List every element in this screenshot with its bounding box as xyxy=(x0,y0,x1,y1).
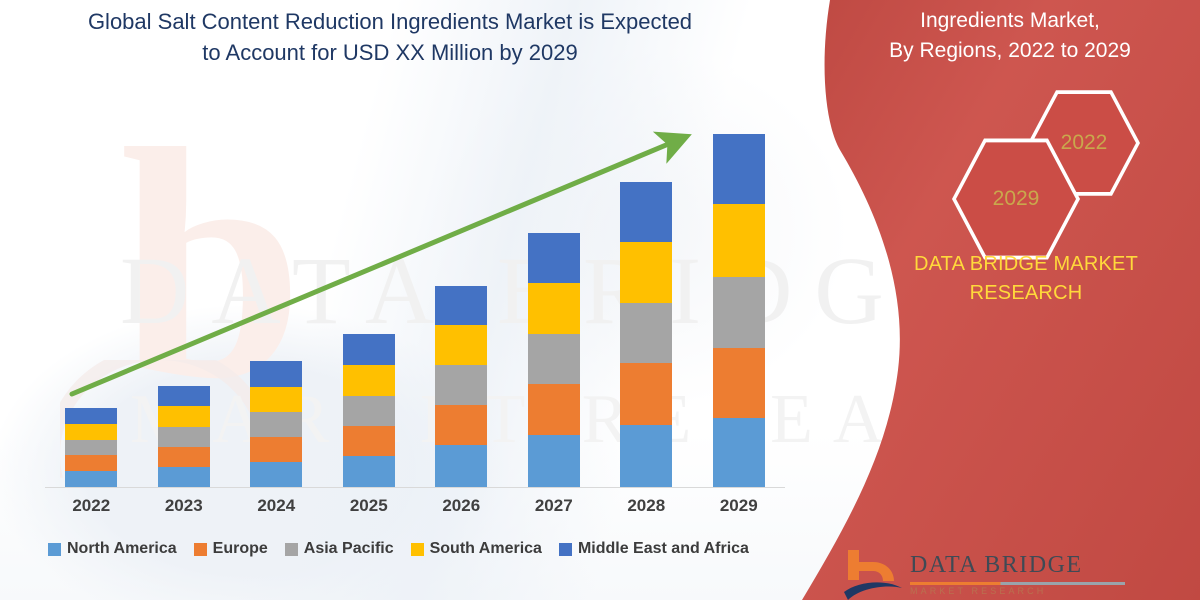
bar-segment[interactable] xyxy=(713,348,765,418)
stacked-bar-chart: 20222023202420252026202720282029 xyxy=(0,0,830,600)
bar-group[interactable] xyxy=(65,408,117,487)
bar-group[interactable] xyxy=(713,134,765,487)
bar-segment[interactable] xyxy=(250,437,302,462)
bar-segment[interactable] xyxy=(713,418,765,487)
bar-segment[interactable] xyxy=(528,435,580,487)
bar-segment[interactable] xyxy=(620,182,672,242)
bar-segment[interactable] xyxy=(713,204,765,277)
bar-group[interactable] xyxy=(343,334,395,487)
bar-group[interactable] xyxy=(435,286,487,487)
logo-divider xyxy=(910,582,1125,585)
x-axis-tick-label: 2025 xyxy=(324,496,414,516)
bar-segment[interactable] xyxy=(343,426,395,456)
bar-segment[interactable] xyxy=(528,384,580,435)
bar-segment[interactable] xyxy=(435,286,487,325)
bar-segment[interactable] xyxy=(65,455,117,471)
panel-title-line-2: By Regions, 2022 to 2029 xyxy=(889,39,1131,62)
bar-segment[interactable] xyxy=(528,334,580,384)
brand-name-line-2: RESEARCH xyxy=(970,282,1083,304)
bar-segment[interactable] xyxy=(158,467,210,487)
bar-segment[interactable] xyxy=(343,396,395,426)
bar-segment[interactable] xyxy=(65,471,117,487)
legend-label: North America xyxy=(67,540,177,558)
bar-segment[interactable] xyxy=(343,334,395,365)
bar-segment[interactable] xyxy=(65,424,117,440)
bar-group[interactable] xyxy=(528,233,580,487)
bar-segment[interactable] xyxy=(158,406,210,427)
hexagon-badges: 2022 2029 xyxy=(932,88,1182,218)
x-axis-tick-label: 2027 xyxy=(509,496,599,516)
bar-segment[interactable] xyxy=(65,408,117,424)
bar-segment[interactable] xyxy=(435,405,487,445)
legend-item[interactable]: Asia Pacific xyxy=(285,540,394,558)
legend-label: Europe xyxy=(213,540,268,558)
bar-segment[interactable] xyxy=(158,447,210,467)
bar-segment[interactable] xyxy=(250,462,302,487)
x-axis-tick-label: 2029 xyxy=(694,496,784,516)
bar-segment[interactable] xyxy=(620,242,672,303)
panel-title-line-1: Ingredients Market, xyxy=(920,9,1100,32)
bar-series-container xyxy=(45,110,785,487)
bar-group[interactable] xyxy=(620,182,672,487)
hexagon-start-year-label: 2022 xyxy=(1061,131,1108,155)
infographic-canvas: b DATA BRIDGE MARKET RESEARCH Global Sal… xyxy=(0,0,1200,600)
bar-segment[interactable] xyxy=(158,427,210,447)
legend-item[interactable]: Europe xyxy=(194,540,268,558)
x-axis-labels: 20222023202420252026202720282029 xyxy=(45,496,785,526)
bar-group[interactable] xyxy=(158,386,210,487)
bar-segment[interactable] xyxy=(713,277,765,348)
bar-segment[interactable] xyxy=(158,386,210,406)
legend-color-swatch xyxy=(194,543,207,556)
x-axis-tick-label: 2022 xyxy=(46,496,136,516)
legend-item[interactable]: North America xyxy=(48,540,177,558)
legend-item[interactable]: Middle East and Africa xyxy=(559,540,749,558)
bar-segment[interactable] xyxy=(713,134,765,204)
legend-color-swatch xyxy=(48,543,61,556)
x-axis-tick-label: 2024 xyxy=(231,496,321,516)
bar-segment[interactable] xyxy=(620,425,672,487)
bar-segment[interactable] xyxy=(250,387,302,412)
bar-segment[interactable] xyxy=(435,365,487,405)
bar-segment[interactable] xyxy=(528,233,580,283)
bar-segment[interactable] xyxy=(343,365,395,396)
chart-legend: North AmericaEuropeAsia PacificSouth Ame… xyxy=(48,540,749,558)
bar-segment[interactable] xyxy=(620,303,672,363)
legend-label: South America xyxy=(430,540,542,558)
legend-color-swatch xyxy=(559,543,572,556)
bar-group[interactable] xyxy=(250,361,302,487)
x-axis-line xyxy=(45,487,785,488)
x-axis-tick-label: 2028 xyxy=(601,496,691,516)
x-axis-tick-label: 2023 xyxy=(139,496,229,516)
legend-label: Middle East and Africa xyxy=(578,540,749,558)
logo-wordmark: DATA BRIDGE xyxy=(910,552,1083,579)
bar-segment[interactable] xyxy=(528,283,580,334)
panel-title: Ingredients Market, By Regions, 2022 to … xyxy=(820,6,1200,66)
logo-tagline: MARKET RESEARCH xyxy=(910,586,1046,596)
brand-name: DATA BRIDGE MARKET RESEARCH xyxy=(856,250,1196,308)
bar-segment[interactable] xyxy=(435,445,487,487)
data-bridge-logo: DATA BRIDGE MARKET RESEARCH xyxy=(832,544,1172,600)
bar-segment[interactable] xyxy=(250,361,302,387)
bridge-logo-icon xyxy=(842,548,904,600)
legend-label: Asia Pacific xyxy=(304,540,394,558)
bar-segment[interactable] xyxy=(250,412,302,437)
x-axis-tick-label: 2026 xyxy=(416,496,506,516)
legend-item[interactable]: South America xyxy=(411,540,542,558)
brand-name-line-1: DATA BRIDGE MARKET xyxy=(914,253,1138,275)
bar-segment[interactable] xyxy=(343,456,395,487)
legend-color-swatch xyxy=(285,543,298,556)
hexagon-end-year-label: 2029 xyxy=(993,187,1040,211)
bar-segment[interactable] xyxy=(620,363,672,425)
bar-segment[interactable] xyxy=(435,325,487,365)
legend-color-swatch xyxy=(411,543,424,556)
bar-segment[interactable] xyxy=(65,440,117,455)
